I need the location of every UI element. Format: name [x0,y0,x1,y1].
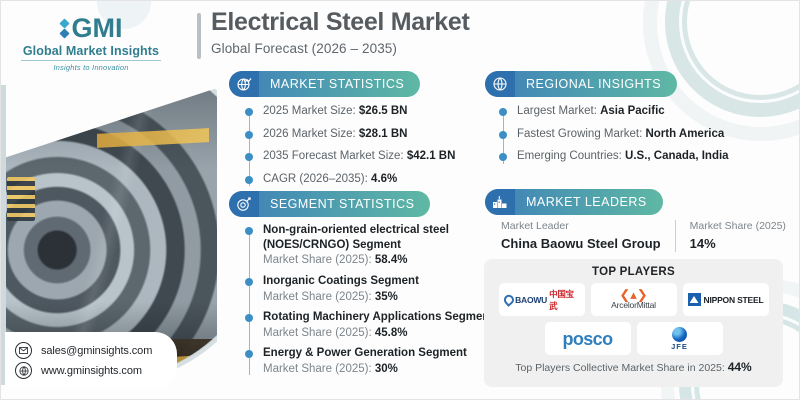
segment-share-value: 45.8% [375,327,408,339]
list-item: 2035 Forecast Market Size: $42.1 BN [245,149,475,165]
market-statistics-list: 2025 Market Size: $26.5 BN 2026 Market S… [245,104,475,194]
section-badge-regional-insights: REGIONAL INSIGHTS [485,71,677,97]
region-label: Largest Market: [517,105,597,117]
title-block: Electrical Steel Market Global Forecast … [197,9,470,56]
target-chart-icon [229,191,259,217]
infographic-canvas: GMI Global Market Insights Insights to I… [0,0,800,400]
list-item: 2025 Market Size: $26.5 BN [245,104,475,120]
logo-tagline: Insights to Innovation [15,63,167,72]
decor-ring-top-right [665,0,800,117]
regional-insights-list: Largest Market: Asia Pacific Fastest Gro… [499,104,779,172]
market-leader-column: Market Leader China Baowu Steel Group [501,220,675,252]
stat-label: 2035 Forecast Market Size: [263,150,404,162]
bullet-dot [245,108,253,116]
stat-label: 2026 Market Size: [263,128,356,140]
bullet-dot [499,131,507,139]
list-item: Non-grain-oriented electrical steel (NOE… [245,223,495,269]
bullet-dot [245,153,253,161]
top-players-title: TOP PLAYERS [494,266,773,278]
section-badge-market-leaders: MARKET LEADERS [485,189,663,215]
market-share-key: Market Share (2025) [690,220,786,234]
stat-label: CAGR (2026–2035): [263,173,368,185]
contact-website: www.gminsights.com [41,365,142,377]
region-label: Fastest Growing Market: [517,128,642,140]
envelope-icon [15,342,32,359]
section-badge-segment-statistics: SEGMENT STATISTICS [229,191,430,217]
logo-divider [21,60,161,61]
logo-company-name: Global Market Insights [15,44,167,58]
contact-email: sales@gminsights.com [41,345,152,357]
stat-value: $28.1 BN [359,128,408,140]
stat-value: $26.5 BN [359,105,408,117]
list-item: Energy & Power Generation Segment Market… [245,346,495,377]
globe-icon [485,71,515,97]
market-leader-value: China Baowu Steel Group [501,235,661,253]
segment-share-value: 30% [375,363,398,375]
list-item: Emerging Countries: U.S., Canada, India [499,149,779,165]
segment-share-label: Market Share (2025): [263,327,372,339]
region-value: Asia Pacific [600,105,665,117]
decor-ring-top-right-inner [679,0,800,103]
page-title: Electrical Steel Market [211,9,470,37]
segment-share-label: Market Share (2025): [263,254,372,266]
segment-title: Inorganic Coatings Segment [263,274,495,289]
segment-share-value: 58.4% [375,254,408,266]
badge-label: MARKET STATISTICS [259,77,420,91]
bullet-dot [245,131,253,139]
list-item: 2026 Market Size: $28.1 BN [245,127,475,143]
contact-panel: sales@gminsights.com www.gminsights.com [5,332,177,389]
logo-diamond-icon [60,19,69,38]
list-item: CAGR (2026–2035): 4.6% [245,172,475,188]
badge-label: MARKET LEADERS [515,195,663,209]
section-badge-market-statistics: MARKET STATISTICS [229,71,420,97]
bullet-dot [245,176,253,184]
segment-title: Energy & Power Generation Segment [263,346,495,361]
bullet-dot [499,108,507,116]
contact-website-row[interactable]: www.gminsights.com [15,362,167,379]
contact-email-row[interactable]: sales@gminsights.com [15,342,167,359]
bullet-dot [245,350,253,358]
gmi-logo[interactable]: GMI Global Market Insights Insights to I… [15,15,167,72]
nippon-mark-icon [688,293,701,306]
collective-share-label: Top Players Collective Market Share in 2… [515,362,725,374]
region-value: North America [645,128,724,140]
badge-label: SEGMENT STATISTICS [259,197,430,211]
baowu-swirl-icon [501,293,515,307]
baowu-logo[interactable]: BAOWU中国宝武 [499,283,585,316]
top-players-grid: BAOWU中国宝武 ❮▴❯ ArcelorMittal NIPPON STEEL… [494,283,773,355]
jfe-orb-icon [672,327,687,342]
list-item: Fastest Growing Market: North America [499,127,779,143]
globe-icon [15,362,32,379]
logo-wordmark: GMI [72,15,123,42]
segment-share-label: Market Share (2025): [263,291,372,303]
badge-label: REGIONAL INSIGHTS [515,77,677,91]
bullet-dot [245,227,253,235]
segment-share-label: Market Share (2025): [263,363,372,375]
stat-value: $42.1 BN [407,150,456,162]
segment-share-value: 35% [375,291,398,303]
posco-logo[interactable]: posco [545,322,631,355]
market-share-value: 14% [690,235,786,253]
segment-title: Non-grain-oriented electrical steel (NOE… [263,223,495,252]
top-players-footer: Top Players Collective Market Share in 2… [494,360,773,374]
region-value: U.S., Canada, India [625,150,729,162]
jfe-logo[interactable]: JFE [637,322,723,355]
bullet-dot [245,278,253,286]
nippon-steel-logo[interactable]: NIPPON STEEL [683,283,769,316]
stat-value: 4.6% [371,173,397,185]
market-share-column: Market Share (2025) 14% [675,220,786,252]
list-item: Inorganic Coatings Segment Market Share … [245,274,495,305]
top-players-panel: TOP PLAYERS BAOWU中国宝武 ❮▴❯ ArcelorMittal … [484,259,783,387]
market-leader-key: Market Leader [501,220,661,234]
factory-icon [485,189,515,215]
bullet-dot [245,314,253,322]
segment-statistics-list: Non-grain-oriented electrical steel (NOE… [245,223,495,383]
segment-title: Rotating Machinery Applications Segment [263,310,495,325]
bullet-dot [499,153,507,161]
page-subtitle: Global Forecast (2026 – 2035) [211,41,470,56]
market-leader-detail: Market Leader China Baowu Steel Group Ma… [501,220,786,252]
globe-chart-icon [229,71,259,97]
stat-label: 2025 Market Size: [263,105,356,117]
region-label: Emerging Countries: [517,150,622,162]
collective-share-value: 44% [728,360,752,374]
arcelormittal-logo[interactable]: ❮▴❯ ArcelorMittal [591,283,677,316]
list-item: Largest Market: Asia Pacific [499,104,779,120]
list-item: Rotating Machinery Applications Segment … [245,310,495,341]
